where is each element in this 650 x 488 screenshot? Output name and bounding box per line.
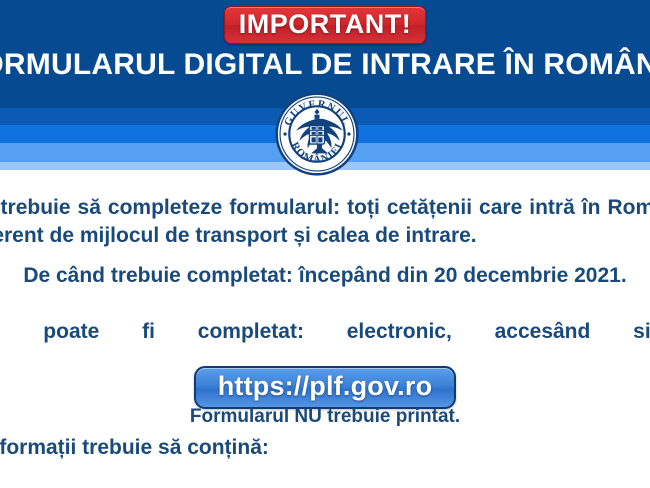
poster-body: Cine trebuie să completeze formularul: t… <box>0 170 650 488</box>
page-title: FORMULARUL DIGITAL DE INTRARE ÎN ROMÂNIA <box>0 49 650 81</box>
paragraph-what: Ce informații trebuie să conțină: <box>0 434 650 462</box>
paragraph-when: De când trebuie completat: începând din … <box>0 262 650 290</box>
paragraph-where-text: Unde poate fi completat: electronic, acc… <box>0 318 650 346</box>
paragraph-who: Cine trebuie să completeze formularul: t… <box>0 194 650 249</box>
plf-url-button[interactable]: https://plf.gov.ro <box>194 366 457 409</box>
paragraph-where: Unde poate fi completat: electronic, acc… <box>0 318 650 346</box>
url-button-container: https://plf.gov.ro <box>0 366 650 409</box>
government-seal-icon: GUVERNUL ROMÂNIEI <box>275 92 359 176</box>
important-badge: IMPORTANT! <box>224 6 426 44</box>
poster-root: IMPORTANT! FORMULARUL DIGITAL DE INTRARE… <box>0 0 650 488</box>
important-badge-container: IMPORTANT! <box>0 6 650 44</box>
print-note: Formularul NU trebuie printat. <box>0 406 650 428</box>
